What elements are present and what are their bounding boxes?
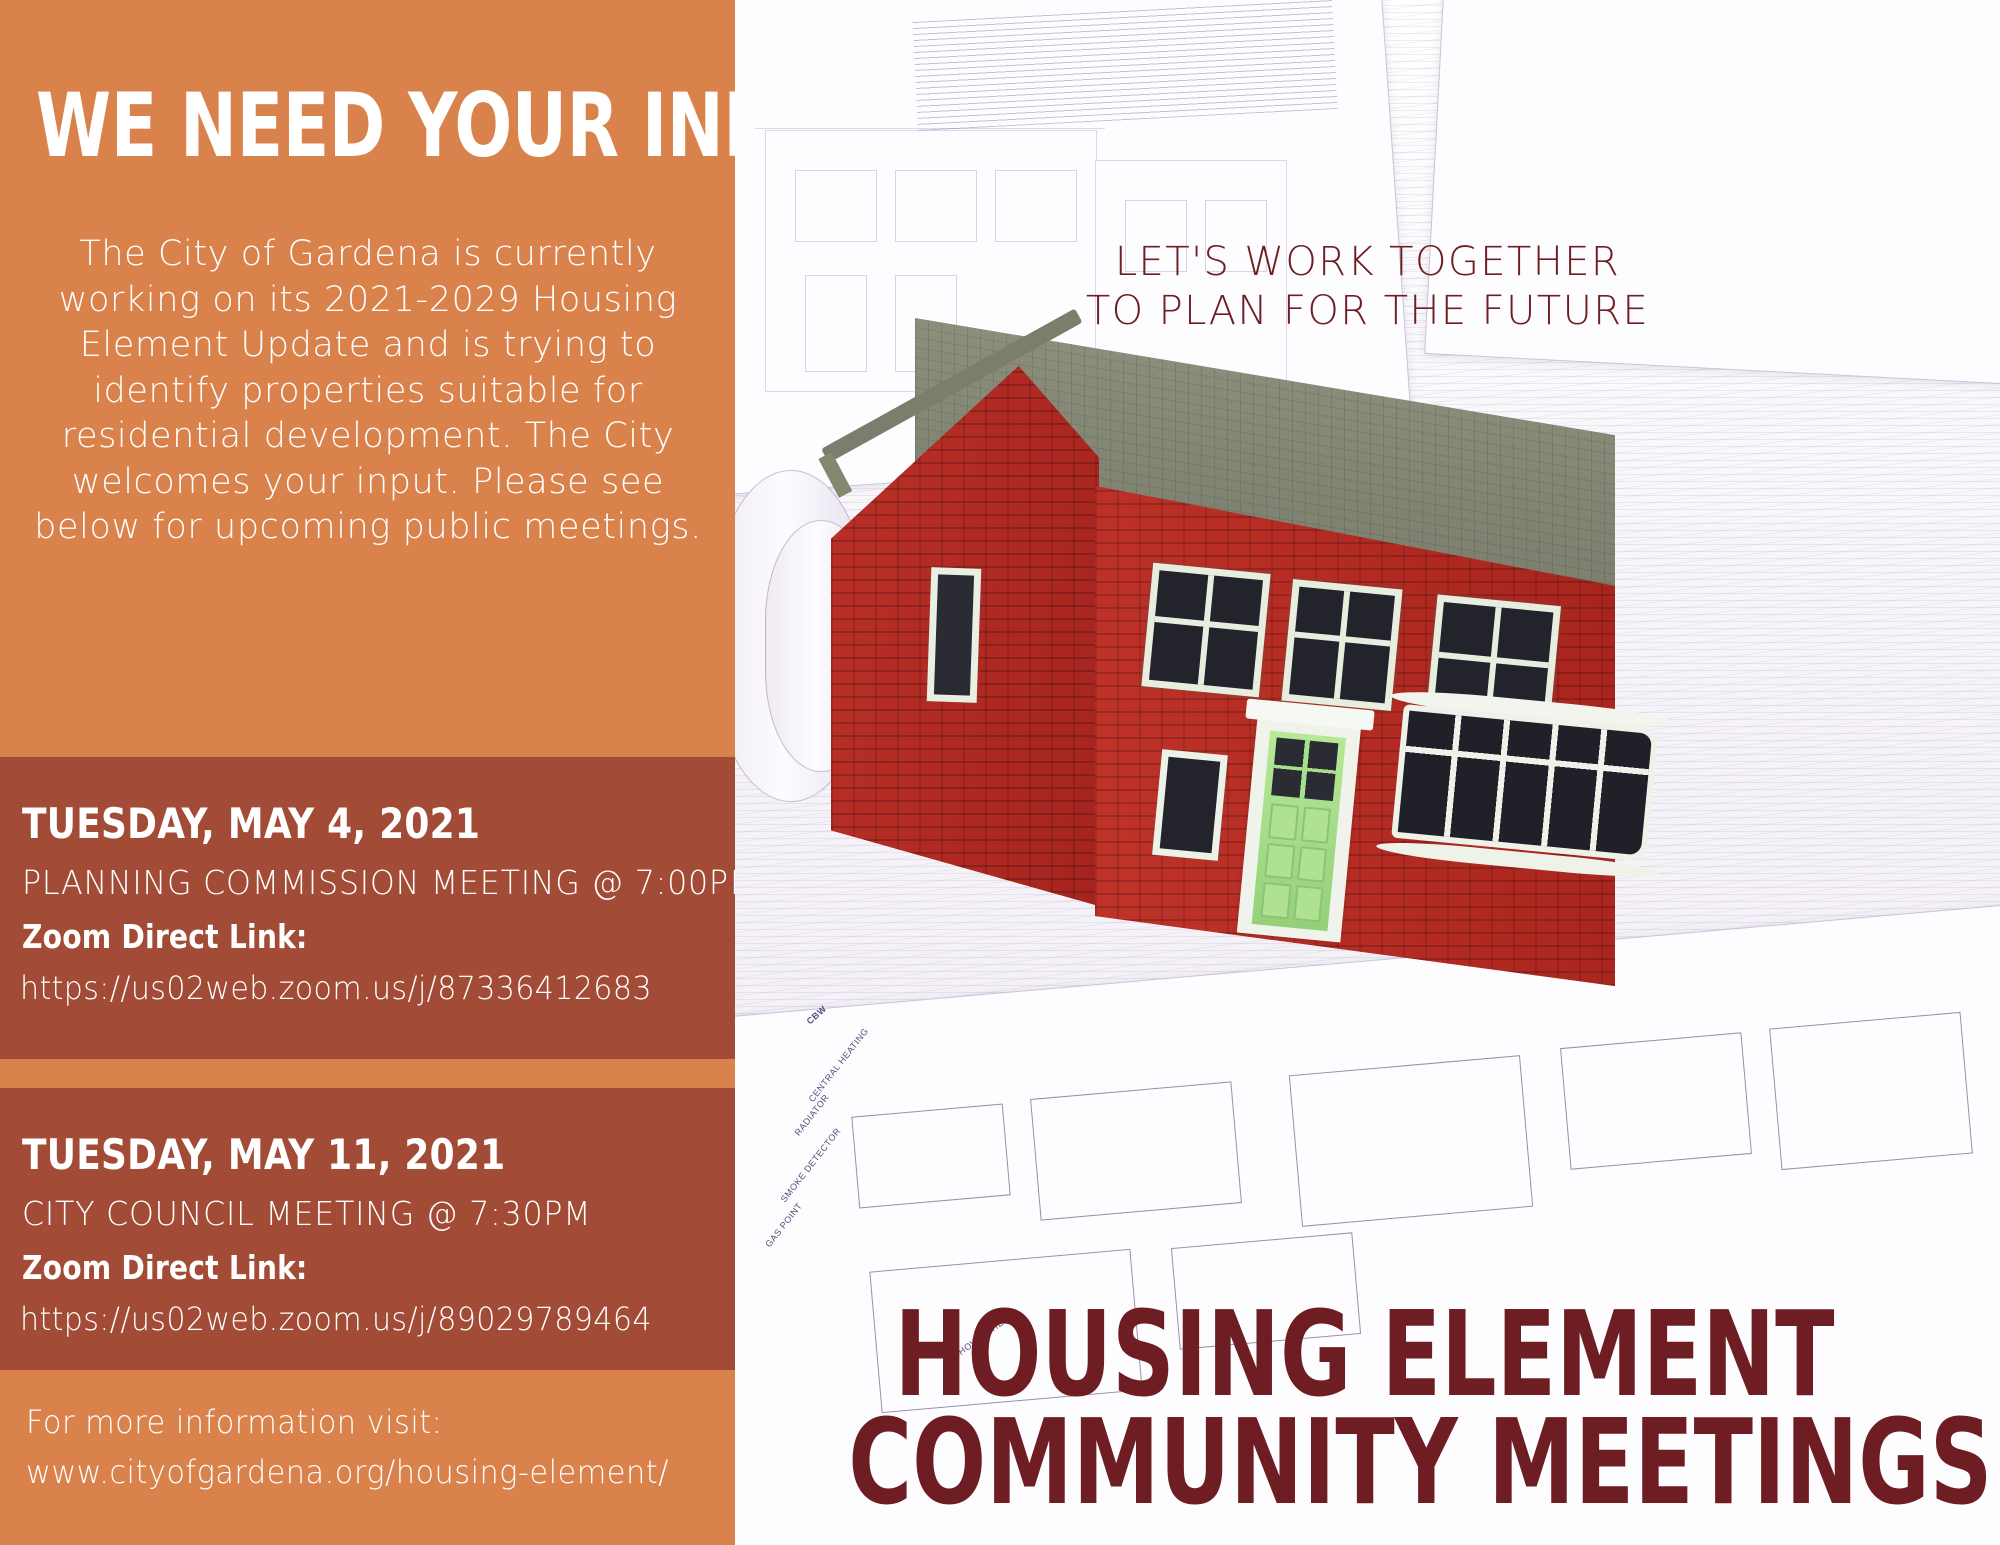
house-gable-trim bbox=[825, 352, 1125, 542]
zoom-link-url[interactable]: https://us02web.zoom.us/j/89029789464 bbox=[20, 1300, 652, 1338]
house-side-window bbox=[927, 567, 982, 703]
house-front-door bbox=[1252, 731, 1346, 931]
meeting-block-2: TUESDAY, MAY 11, 2021 CITY COUNCIL MEETI… bbox=[0, 1088, 735, 1370]
floorplan-room bbox=[1030, 1081, 1242, 1220]
meeting-name-time: CITY COUNCIL MEETING @ 7:30PM bbox=[22, 1194, 591, 1233]
main-title-line-1: HOUSING ELEMENT bbox=[848, 1300, 1880, 1409]
house-small-window bbox=[1152, 749, 1228, 861]
meeting-block-1: TUESDAY, MAY 4, 2021 PLANNING COMMISSION… bbox=[0, 757, 735, 1059]
meeting-name-time: PLANNING COMMISSION MEETING @ 7:00PM bbox=[22, 863, 757, 902]
house-upper-window bbox=[1281, 579, 1402, 711]
footer-info: For more information visit: www.cityofga… bbox=[26, 1398, 716, 1497]
page-title: WE NEED YOUR INPUT! bbox=[36, 86, 621, 167]
zoom-link-label: Zoom Direct Link: bbox=[22, 1248, 308, 1287]
right-image-panel: CBW CENTRAL HEATING RADIATOR SMOKE DETEC… bbox=[735, 0, 2000, 1545]
tagline-line-1: LET'S WORK TOGETHER bbox=[735, 238, 2000, 287]
intro-paragraph: The City of Gardena is currently working… bbox=[28, 232, 708, 551]
house-upper-window bbox=[1141, 563, 1270, 698]
zoom-link-url[interactable]: https://us02web.zoom.us/j/87336412683 bbox=[20, 969, 652, 1007]
flyer-poster: WE NEED YOUR INPUT! The City of Gardena … bbox=[0, 0, 2000, 1545]
bay-window-glass bbox=[1391, 704, 1659, 862]
floorplan-room bbox=[1560, 1032, 1752, 1169]
main-title-line-2: COMMUNITY MEETINGS bbox=[848, 1408, 1880, 1517]
footer-label: For more information visit: bbox=[26, 1398, 682, 1448]
house-front-door-frame bbox=[1237, 716, 1361, 943]
meeting-date: TUESDAY, MAY 11, 2021 bbox=[22, 1130, 505, 1179]
house-door-glass bbox=[1271, 737, 1338, 801]
model-house-photo bbox=[795, 300, 1615, 1000]
floorplan-room bbox=[851, 1104, 1010, 1209]
house-bay-window bbox=[1384, 696, 1665, 871]
zoom-link-label: Zoom Direct Link: bbox=[22, 917, 308, 956]
floorplan-room bbox=[1289, 1055, 1533, 1227]
floorplan-room bbox=[1769, 1012, 1973, 1170]
left-info-panel: WE NEED YOUR INPUT! The City of Gardena … bbox=[0, 0, 735, 1545]
meeting-date: TUESDAY, MAY 4, 2021 bbox=[22, 799, 480, 848]
house-door-panels bbox=[1260, 803, 1331, 922]
main-event-title: HOUSING ELEMENT COMMUNITY MEETINGS bbox=[735, 1300, 1994, 1517]
footer-website[interactable]: www.cityofgardena.org/housing-element/ bbox=[26, 1448, 682, 1498]
blueprint-roof-hatch bbox=[912, 0, 1337, 131]
